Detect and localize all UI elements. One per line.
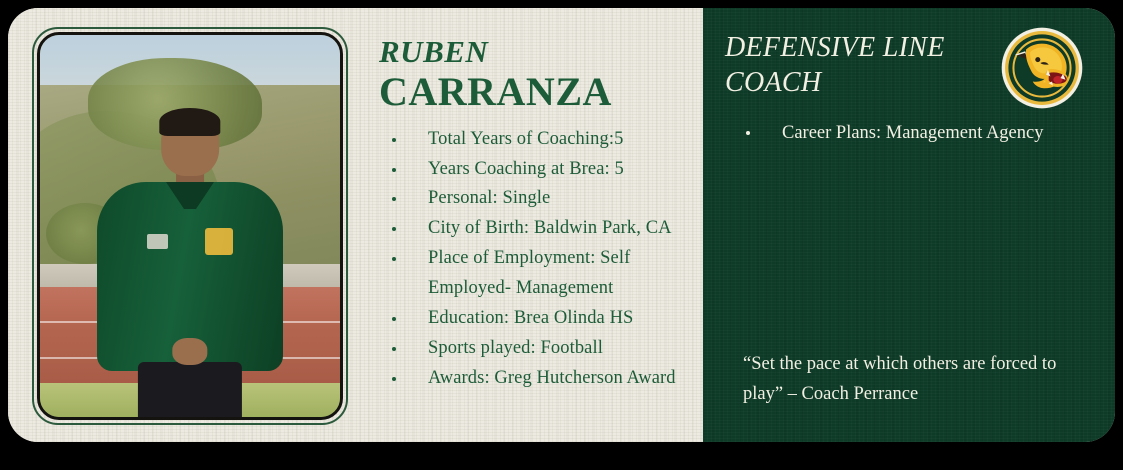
wildcat-head-logo-icon	[1000, 26, 1084, 110]
list-item: Years Coaching at Brea: 5	[371, 155, 701, 185]
coach-profile-card: RUBEN CARRANZA Total Years of Coaching:5…	[8, 8, 1115, 442]
photo-hands	[172, 338, 207, 366]
list-item: City of Birth: Baldwin Park, CA	[371, 214, 701, 244]
photo-hair	[159, 108, 220, 136]
coach-first-name: RUBEN	[379, 36, 701, 69]
photo-brand-mark	[147, 234, 167, 249]
career-plans-list: Career Plans: Management Agency	[725, 118, 1055, 149]
photo-shirt-logo	[205, 228, 233, 256]
list-item: Place of Employment: Self Employed- Mana…	[371, 244, 701, 304]
coach-quote: “Set the pace at which others are forced…	[743, 349, 1063, 410]
list-item: Total Years of Coaching:5	[371, 125, 701, 155]
bio-panel: RUBEN CARRANZA Total Years of Coaching:5…	[8, 8, 703, 442]
bio-fact-list: Total Years of Coaching:5 Years Coaching…	[371, 125, 701, 395]
list-item: Sports played: Football	[371, 334, 701, 364]
list-item: Career Plans: Management Agency	[725, 118, 1055, 149]
role-title: DEFENSIVE LINE COACH	[725, 30, 985, 101]
photo-coach-figure	[97, 111, 283, 417]
coach-photo-frame	[32, 27, 348, 425]
list-item: Awards: Greg Hutcherson Award	[371, 364, 701, 394]
list-item: Personal: Single	[371, 184, 701, 214]
role-panel: DEFENSIVE LINE COACH	[703, 8, 1115, 442]
list-item: Education: Brea Olinda HS	[371, 304, 701, 334]
photo-pants	[138, 362, 242, 417]
coach-photo	[37, 32, 343, 420]
bio-text-block: RUBEN CARRANZA Total Years of Coaching:5…	[371, 36, 701, 394]
coach-last-name: CARRANZA	[379, 71, 701, 113]
